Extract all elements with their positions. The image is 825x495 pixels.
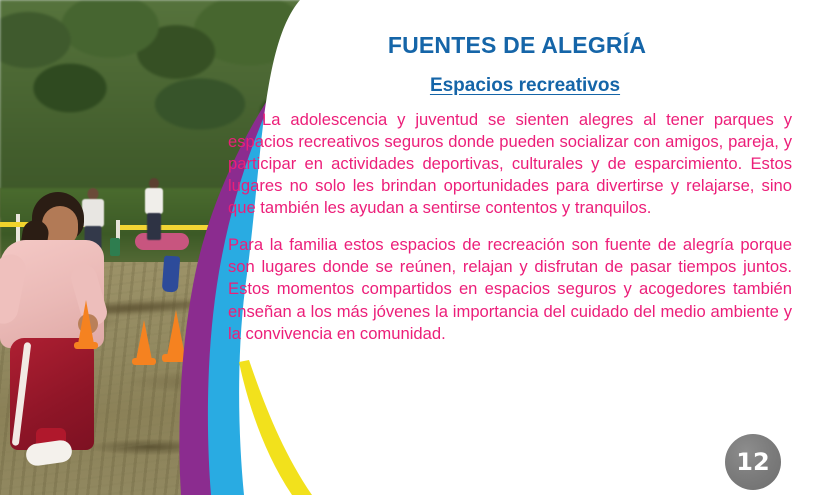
slide-title: FUENTES DE ALEGRÍA <box>228 32 792 59</box>
body-paragraph-1: La adolescencia y juventud se sienten al… <box>228 109 792 219</box>
body-paragraph-2: Para la familia estos espacios de recrea… <box>228 234 792 344</box>
slide-subtitle: Espacios recreativos <box>228 75 792 97</box>
content-panel: FUENTES DE ALEGRÍA Espacios recreativos … <box>0 0 825 495</box>
text-block: FUENTES DE ALEGRÍA Espacios recreativos … <box>228 32 792 360</box>
page-number-badge: 12 <box>725 434 781 490</box>
slide-root: FUENTES DE ALEGRÍA Espacios recreativos … <box>0 0 825 495</box>
